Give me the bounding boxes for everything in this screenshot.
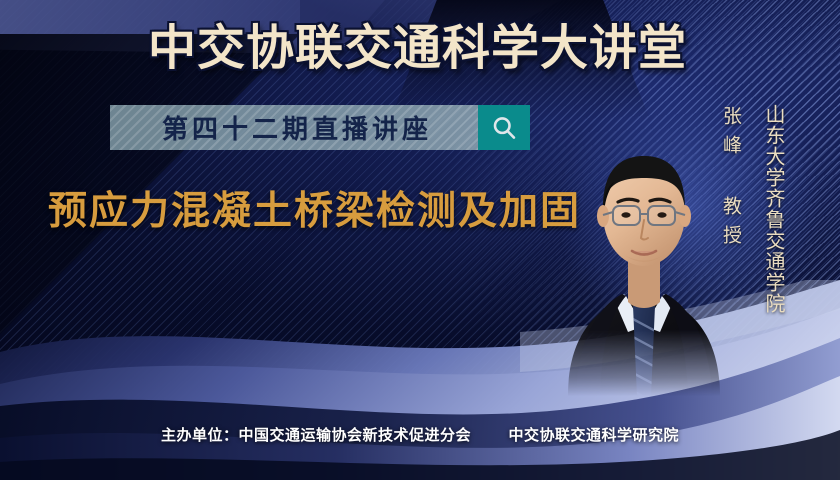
footer-organizer-label: 主办单位：中国交通运输协会新技术促进分会 xyxy=(161,426,471,444)
session-label: 第四十二期直播讲座 xyxy=(156,109,432,146)
session-label-panel: 第四十二期直播讲座 xyxy=(110,105,478,150)
speaker-portrait xyxy=(556,96,732,396)
search-icon xyxy=(490,114,518,142)
search-button[interactable] xyxy=(478,105,530,150)
speaker-institution: 山东大学齐鲁交通学院 xyxy=(760,104,789,314)
page-title: 中交协联交通科学大讲堂 xyxy=(148,20,687,76)
broadcast-time-container: 直播时间：12月2日19:30 xyxy=(145,307,471,359)
lecture-title: 预应力混凝土桥梁检测及加固 xyxy=(48,188,581,236)
footer-organizers: 主办单位：中国交通运输协会新技术促进分会 中交协联交通科学研究院 xyxy=(0,424,840,445)
live-lecture-poster: 中交协联交通科学大讲堂 第四十二期直播讲座 预应力混凝土桥梁检测及加固 直播时间… xyxy=(0,0,840,480)
session-bar: 第四十二期直播讲座 xyxy=(110,105,530,150)
footer-co-organizer: 中交协联交通科学研究院 xyxy=(508,426,679,444)
speaker-name-title: 张峰 教授 xyxy=(718,106,745,254)
